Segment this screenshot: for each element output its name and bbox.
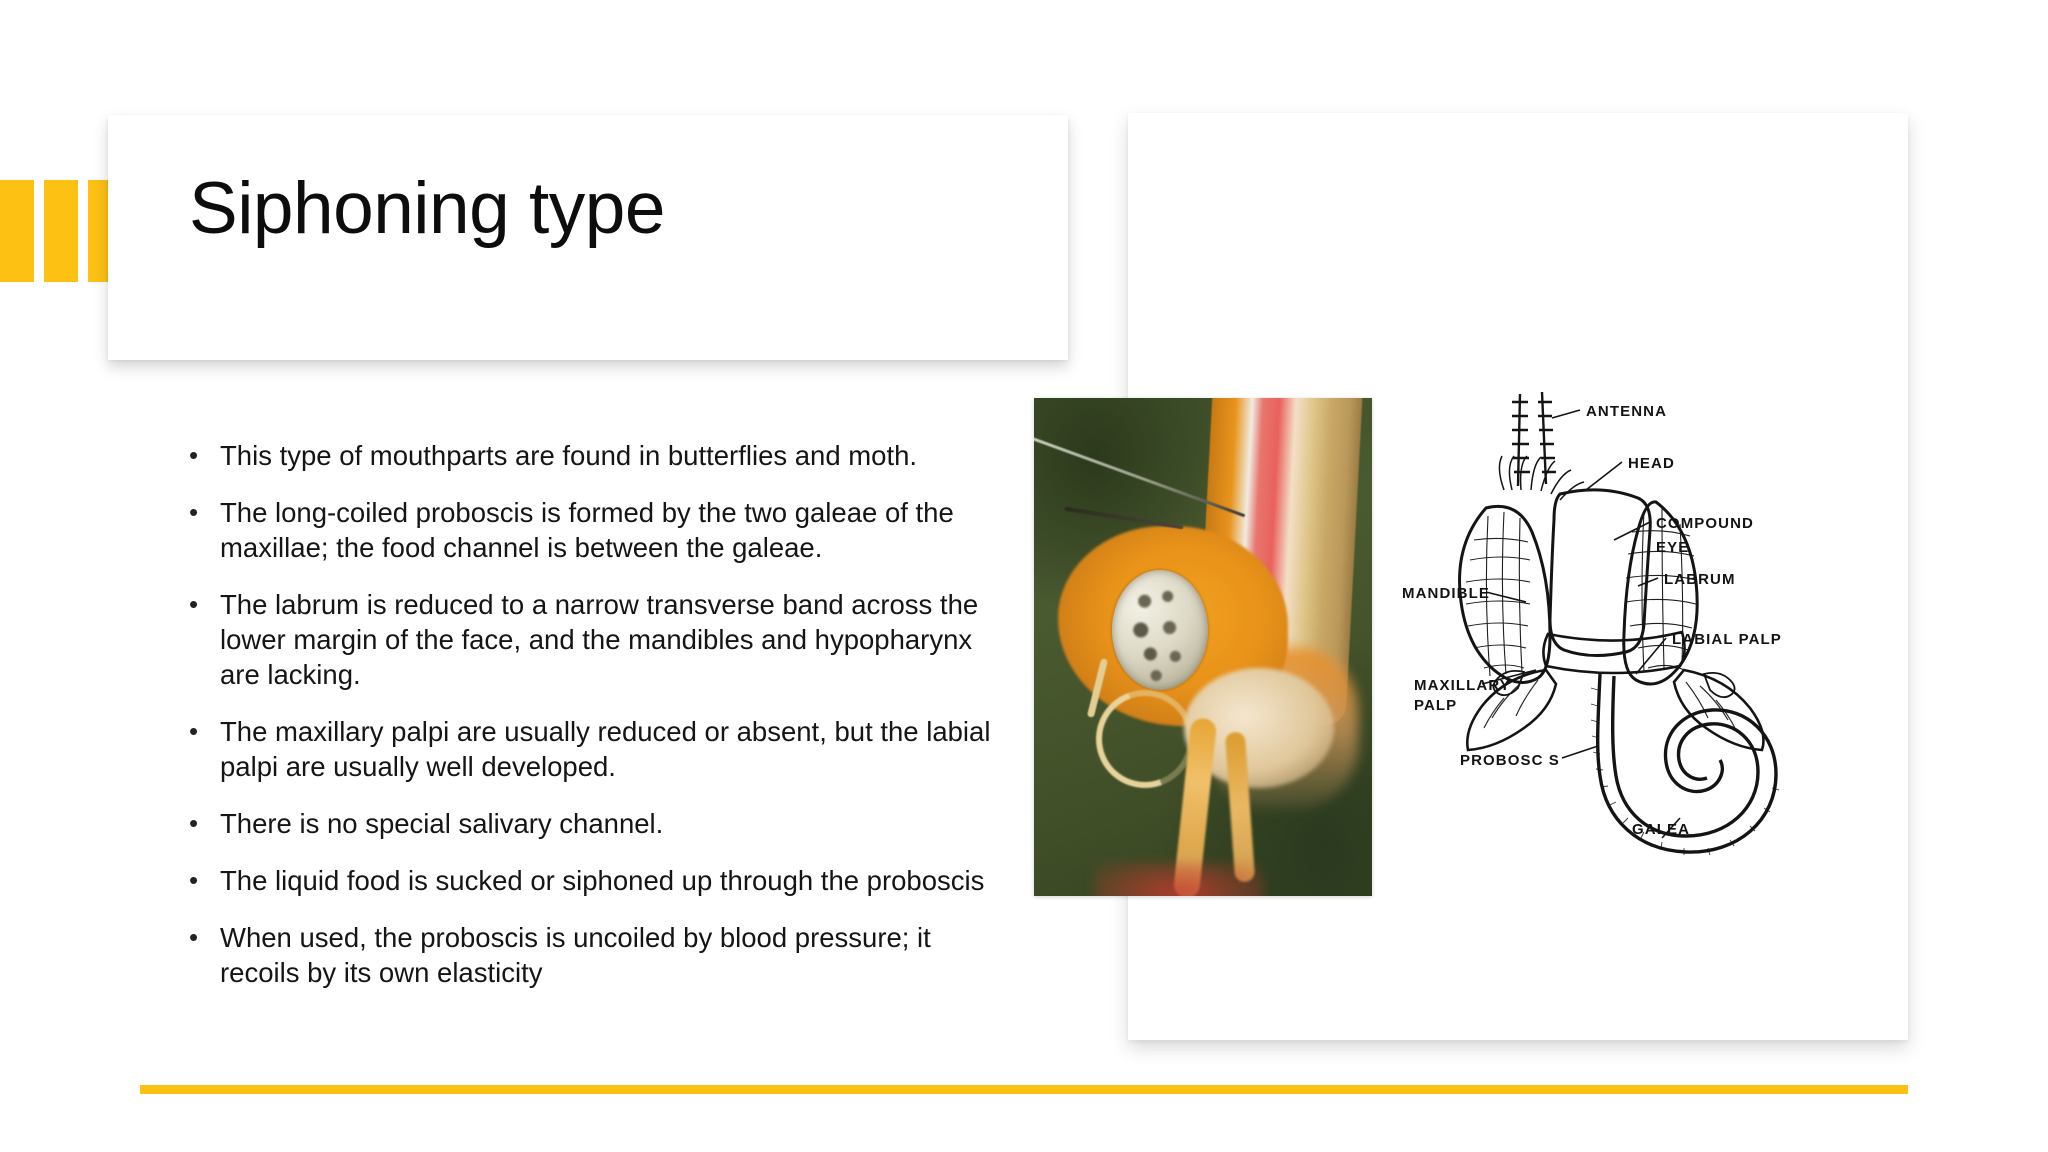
photo-foreground-blur [1094, 862, 1264, 896]
diagram-label-mandible: MANDIBLE [1402, 585, 1490, 602]
diagram-label-head: HEAD [1628, 455, 1675, 472]
list-item: • There is no special salivary channel. [186, 806, 1006, 841]
bullet-text: The labrum is reduced to a narrow transv… [220, 587, 1006, 692]
diagram-label-galea: GALEA [1632, 821, 1690, 838]
bullet-marker-icon: • [186, 806, 220, 841]
bullet-marker-icon: • [186, 495, 220, 530]
bullet-text: This type of mouthparts are found in but… [220, 438, 1006, 473]
bullet-text: When used, the proboscis is uncoiled by … [220, 920, 1006, 990]
list-item: • The maxillary palpi are usually reduce… [186, 714, 1006, 784]
bullet-marker-icon: • [186, 920, 220, 955]
bullet-marker-icon: • [186, 714, 220, 749]
bullet-text: The long-coiled proboscis is formed by t… [220, 495, 1006, 565]
bullet-marker-icon: • [186, 438, 220, 473]
butterfly-compound-eye [1112, 570, 1208, 690]
accent-bar-2 [44, 180, 78, 282]
diagram-label-maxillary: MAXILLARY [1414, 677, 1511, 694]
butterfly-photo [1034, 398, 1372, 896]
title-card: Siphoning type [108, 115, 1068, 360]
bullet-list: • This type of mouthparts are found in b… [186, 438, 1006, 1012]
bullet-text: The liquid food is sucked or siphoned up… [220, 863, 1006, 898]
diagram-label-labial-palp: LABIAL PALP [1672, 631, 1782, 648]
diagram-label-eye: EYE [1656, 539, 1689, 556]
list-item: • This type of mouthparts are found in b… [186, 438, 1006, 473]
list-item: • The liquid food is sucked or siphoned … [186, 863, 1006, 898]
bullet-marker-icon: • [186, 863, 220, 898]
bullet-text: The maxillary palpi are usually reduced … [220, 714, 1006, 784]
diagram-head-capsule [1550, 490, 1650, 656]
list-item: • When used, the proboscis is uncoiled b… [186, 920, 1006, 990]
slide-canvas: Siphoning type • This type of mouthparts… [0, 0, 2048, 1152]
diagram-label-palp: PALP [1414, 697, 1457, 714]
list-item: • The long-coiled proboscis is formed by… [186, 495, 1006, 565]
diagram-label-group: ANTENNA HEAD COMPOUND EYE LABRUM MANDIBL… [1402, 403, 1782, 838]
diagram-label-antenna: ANTENNA [1586, 403, 1667, 420]
bottom-accent-rule [140, 1085, 1908, 1094]
diagram-label-proboscis: PROBOSC S [1460, 752, 1560, 769]
bullet-text: There is no special salivary channel. [220, 806, 1006, 841]
list-item: • The labrum is reduced to a narrow tran… [186, 587, 1006, 692]
bullet-marker-icon: • [186, 587, 220, 622]
diagram-head-setae [1499, 456, 1584, 500]
diagram-label-compound: COMPOUND [1656, 515, 1754, 532]
diagram-label-labrum: LABRUM [1664, 571, 1736, 588]
page-title: Siphoning type [189, 171, 665, 248]
accent-bar-1 [0, 180, 34, 282]
mouthparts-diagram: ANTENNA HEAD COMPOUND EYE LABRUM MANDIBL… [1400, 390, 1920, 910]
